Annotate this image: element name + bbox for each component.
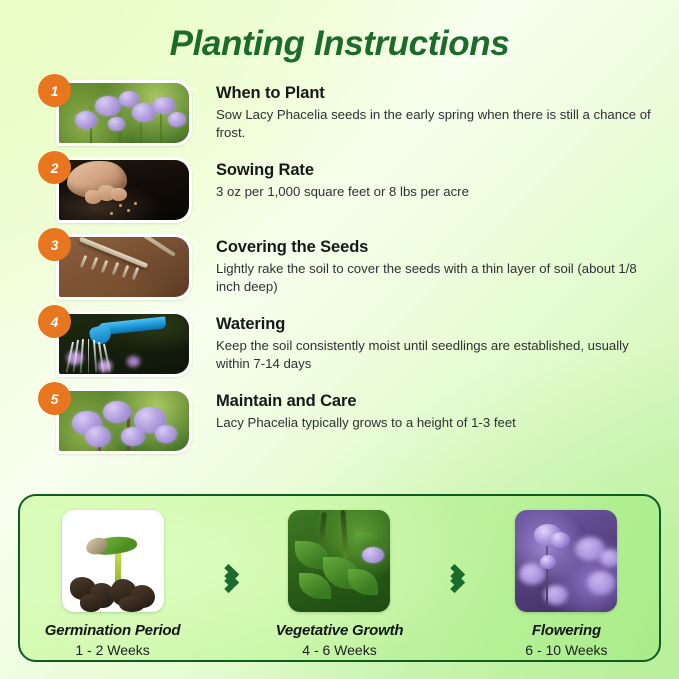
stage-name: Germination Period bbox=[20, 622, 205, 639]
timeline-stage: Vegetative Growth 4 - 6 Weeks bbox=[247, 496, 432, 658]
stage-duration: 1 - 2 Weeks bbox=[20, 642, 205, 658]
step-number-badge: 3 bbox=[38, 228, 71, 261]
step-title: Covering the Seeds bbox=[216, 238, 656, 257]
steps-list: 1 When to Plant Sow Lacy bbox=[0, 80, 679, 465]
step-title: Maintain and Care bbox=[216, 392, 516, 411]
step-description: Sow Lacy Phacelia seeds in the early spr… bbox=[216, 106, 656, 141]
step-description: 3 oz per 1,000 square feet or 8 lbs per … bbox=[216, 183, 469, 201]
step-thumbnail-frame: 5 bbox=[56, 388, 192, 454]
step-item: 4 Watering Kee bbox=[38, 311, 657, 388]
step-text-block: Sowing Rate 3 oz per 1,000 square feet o… bbox=[192, 157, 469, 201]
step-title: Watering bbox=[216, 315, 656, 334]
step-item: 3 Covering the Seeds Lightly rake the so… bbox=[38, 234, 657, 311]
step-title: When to Plant bbox=[216, 84, 656, 103]
step-text-block: Watering Keep the soil consistently mois… bbox=[192, 311, 656, 372]
header: Planting Instructions bbox=[0, 0, 679, 64]
step-item: 1 When to Plant Sow Lacy bbox=[38, 80, 657, 157]
watering-can-photo bbox=[59, 314, 189, 374]
step-number-badge: 1 bbox=[38, 74, 71, 107]
green-foliage-photo bbox=[288, 510, 390, 612]
step-number-badge: 2 bbox=[38, 151, 71, 184]
step-thumbnail-frame: 2 bbox=[56, 157, 192, 223]
page-title: Planting Instructions bbox=[0, 24, 679, 64]
step-item: 5 Maintain and Care Lacy Phacelia typica… bbox=[38, 388, 657, 465]
seedling-sprout-photo bbox=[62, 510, 164, 612]
step-item: 2 Sowing Rate 3 oz per 1,000 square feet… bbox=[38, 157, 657, 234]
stage-duration: 6 - 10 Weeks bbox=[474, 642, 659, 658]
double-chevron-right-icon bbox=[205, 496, 247, 590]
step-description: Keep the soil consistently moist until s… bbox=[216, 337, 656, 372]
step-text-block: Maintain and Care Lacy Phacelia typicall… bbox=[192, 388, 516, 432]
step-description: Lightly rake the soil to cover the seeds… bbox=[216, 260, 656, 295]
step-thumbnail-frame: 4 bbox=[56, 311, 192, 377]
step-text-block: Covering the Seeds Lightly rake the soil… bbox=[192, 234, 656, 295]
stage-duration: 4 - 6 Weeks bbox=[247, 642, 432, 658]
rake-on-soil-photo bbox=[59, 237, 189, 297]
stage-name: Vegetative Growth bbox=[247, 622, 432, 639]
phacelia-flowers-photo bbox=[59, 83, 189, 143]
stage-name: Flowering bbox=[474, 622, 659, 639]
step-thumbnail-frame: 1 bbox=[56, 80, 192, 146]
step-number-badge: 5 bbox=[38, 382, 71, 415]
hand-sowing-seeds-photo bbox=[59, 160, 189, 220]
timeline-stage: Germination Period 1 - 2 Weeks bbox=[20, 496, 205, 658]
step-number-badge: 4 bbox=[38, 305, 71, 338]
step-thumbnail-frame: 3 bbox=[56, 234, 192, 300]
timeline-stage: Flowering 6 - 10 Weeks bbox=[474, 496, 659, 658]
step-text-block: When to Plant Sow Lacy Phacelia seeds in… bbox=[192, 80, 656, 141]
step-title: Sowing Rate bbox=[216, 161, 469, 180]
purple-flower-field-photo bbox=[515, 510, 617, 612]
step-description: Lacy Phacelia typically grows to a heigh… bbox=[216, 414, 516, 432]
double-chevron-right-icon bbox=[432, 496, 474, 590]
phacelia-closeup-photo bbox=[59, 391, 189, 451]
growth-timeline-panel: Germination Period 1 - 2 Weeks Vegetativ… bbox=[18, 494, 661, 662]
